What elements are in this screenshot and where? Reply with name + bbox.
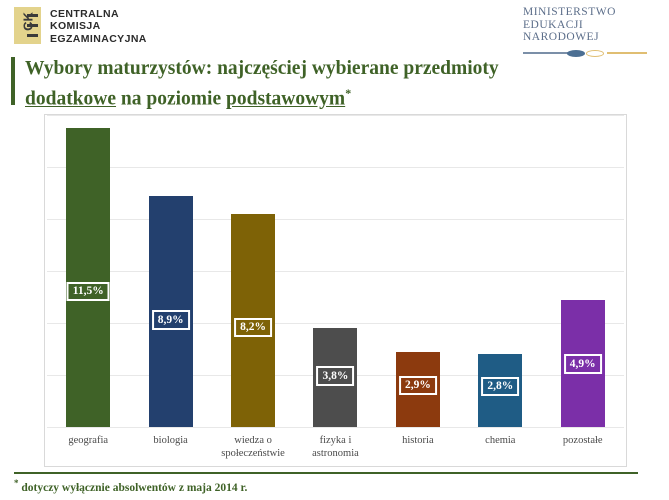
chart-x-label-line: biologia [129,434,211,447]
chart-x-label: chemia [459,431,541,467]
men-flourish-right-leaf-icon [586,50,604,57]
men-flourish-right-line [607,52,647,54]
chart-bar[interactable]: 4,9% [561,300,605,427]
chart-bar[interactable]: 2,8% [478,354,522,427]
chart-x-label-line: astronomia [294,447,376,460]
cke-logo-line-1: CENTRALNA [50,8,147,20]
cke-logo-mark-icon: CK [14,7,41,44]
men-logo-line-2: EDUKACJI [523,19,655,32]
chart-bar[interactable]: 2,9% [396,352,440,427]
chart-bar[interactable]: 8,2% [231,214,275,427]
chart-x-label: historia [377,431,459,467]
chart-x-label: biologia [129,431,211,467]
men-logo-wordmark: MINISTERSTWO EDUKACJI NARODOWEJ [523,6,655,44]
title-asterisk: * [345,86,351,100]
footnote: * dotyczy wyłącznie absolwentów z maja 2… [14,478,247,494]
cke-logo-e-bar-2 [27,24,38,27]
men-flourish-left-leaf-icon [567,50,585,57]
slide-root: CK CENTRALNA KOMISJA EGZAMINACYJNA MINIS… [0,0,669,500]
chart-bar-value-label: 3,8% [317,366,355,386]
chart-bar-column: 3,8% [294,115,376,427]
chart-x-label-line: geografia [47,434,129,447]
men-logo-flourish-icon [523,49,647,57]
men-logo-line-3: NARODOWEJ [523,31,655,44]
chart-x-axis-labels: geografiabiologiawiedza ospołeczeństwief… [47,431,624,467]
cke-logo-line-3: EGZAMINACYJNA [50,33,147,45]
chart-bar-column: 8,2% [212,115,294,427]
cke-logo-line-2: KOMISJA [50,20,147,32]
chart-bar-column: 4,9% [542,115,624,427]
slide-header: CK CENTRALNA KOMISJA EGZAMINACYJNA MINIS… [0,0,669,52]
title-line-2-mid: na poziomie [116,89,226,110]
men-flourish-left-line [523,52,569,54]
title-text: Wybory maturzystów: najczęściej wybieran… [25,57,499,112]
cke-logo-e-bar-1 [27,14,38,17]
chart-bar[interactable]: 3,8% [313,328,357,427]
men-logo: MINISTERSTWO EDUKACJI NARODOWEJ [523,6,655,57]
chart-bar[interactable]: 8,9% [149,196,193,427]
footnote-divider [14,472,638,474]
chart-bars: 11,5%8,9%8,2%3,8%2,9%2,8%4,9% [47,115,624,427]
chart-x-label: geografia [47,431,129,467]
chart-bar-value-label: 8,9% [152,310,190,330]
chart-bar-value-label: 2,8% [481,377,519,397]
footnote-text: dotyczy wyłącznie absolwentów z maja 201… [19,482,248,494]
cke-logo-wordmark: CENTRALNA KOMISJA EGZAMINACYJNA [50,8,147,45]
chart-bar[interactable]: 11,5% [66,128,110,427]
chart-x-label-line: społeczeństwie [212,447,294,460]
chart-x-label: fizyka iastronomia [294,431,376,467]
title-line-1: Wybory maturzystów: najczęściej wybieran… [25,58,499,79]
chart-bar-column: 8,9% [129,115,211,427]
chart-x-label-line: pozostałe [542,434,624,447]
men-logo-line-1: MINISTERSTWO [523,6,655,19]
chart-bar-value-label: 4,9% [564,354,602,374]
page-title: Wybory maturzystów: najczęściej wybieran… [11,57,611,112]
chart-panel: 11,5%8,9%8,2%3,8%2,9%2,8%4,9% geografiab… [44,114,627,467]
cke-logo-e-bar-3 [27,34,38,37]
chart-bar-value-label: 8,2% [234,318,272,338]
chart-x-label: pozostałe [542,431,624,467]
cke-logo: CK CENTRALNA KOMISJA EGZAMINACYJNA [14,7,147,45]
title-word-dodatkowe: dodatkowe [25,89,116,110]
chart-bar-column: 2,9% [377,115,459,427]
chart-x-label-line: wiedza o [212,434,294,447]
chart-gridline [47,427,624,428]
chart-x-label-line: historia [377,434,459,447]
chart-bar-value-label: 11,5% [67,282,110,302]
chart-bar-column: 2,8% [459,115,541,427]
chart-plot-area: 11,5%8,9%8,2%3,8%2,9%2,8%4,9% geografiab… [45,115,626,466]
chart-bar-column: 11,5% [47,115,129,427]
chart-x-label-line: fizyka i [294,434,376,447]
title-accent-bar [11,57,15,105]
title-word-podstawowym: podstawowym [226,89,345,110]
chart-bar-value-label: 2,9% [399,376,437,396]
chart-x-label: wiedza ospołeczeństwie [212,431,294,467]
chart-x-label-line: chemia [459,434,541,447]
